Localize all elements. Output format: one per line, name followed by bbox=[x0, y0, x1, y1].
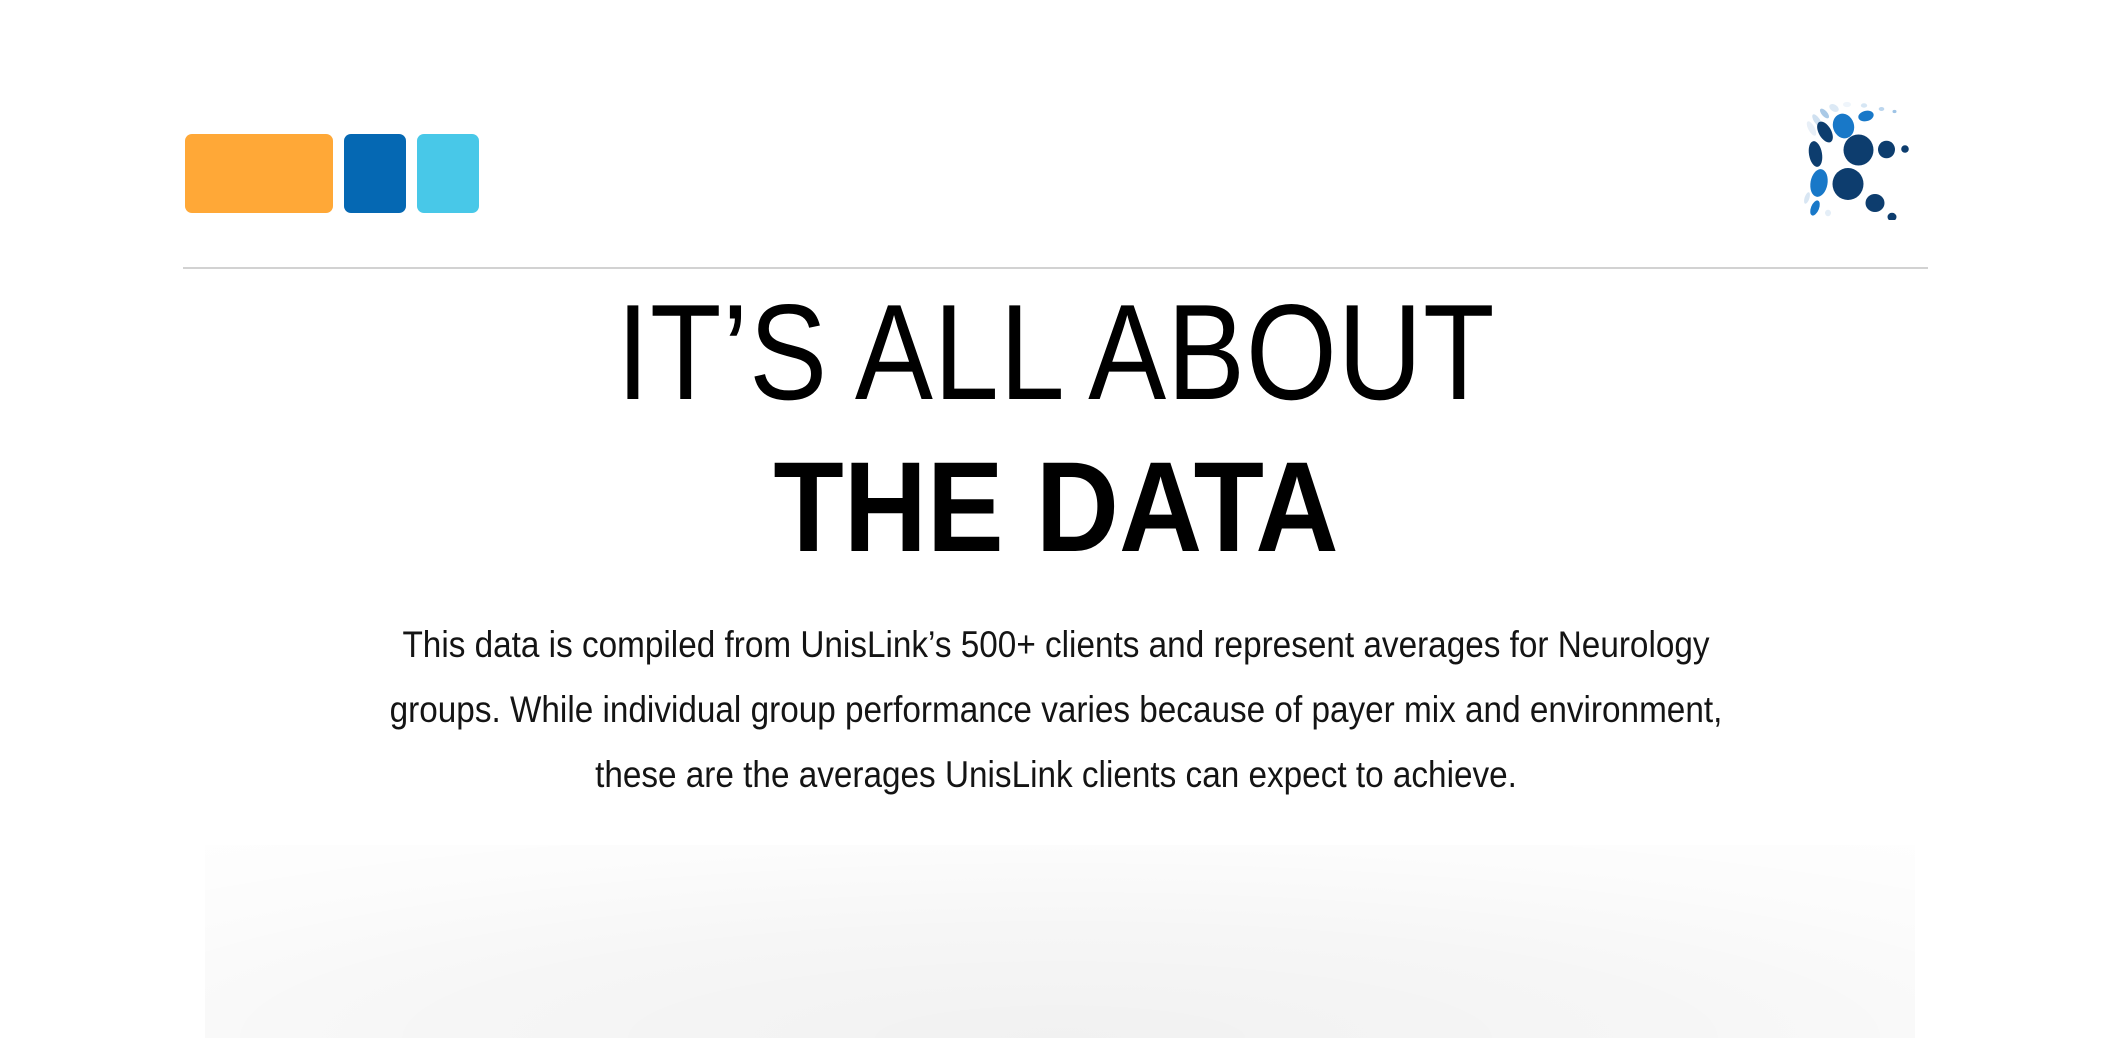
blue-block bbox=[344, 134, 406, 213]
title-line-1: IT’S ALL ABOUT bbox=[148, 284, 1964, 420]
body-line-1: This data is compiled from UnisLink’s 50… bbox=[106, 612, 2007, 677]
body-paragraph: This data is compiled from UnisLink’s 50… bbox=[0, 612, 2112, 807]
slide-root: IT’S ALL ABOUT THE DATA This data is com… bbox=[0, 0, 2112, 1038]
cyan-block bbox=[417, 134, 479, 213]
slide-header bbox=[0, 0, 2112, 270]
header-divider bbox=[183, 267, 1928, 269]
title-line-2: THE DATA bbox=[106, 444, 2007, 572]
body-line-3: these are the averages UnisLink clients … bbox=[106, 742, 2007, 807]
body-line-2: groups. While individual group performan… bbox=[106, 677, 2007, 742]
orange-block bbox=[185, 134, 333, 213]
title-block: IT’S ALL ABOUT THE DATA bbox=[0, 284, 2112, 572]
brand-color-blocks bbox=[185, 134, 479, 213]
unislink-globe-logo bbox=[1795, 98, 1915, 220]
bottom-gradient-panel bbox=[205, 845, 1915, 1038]
